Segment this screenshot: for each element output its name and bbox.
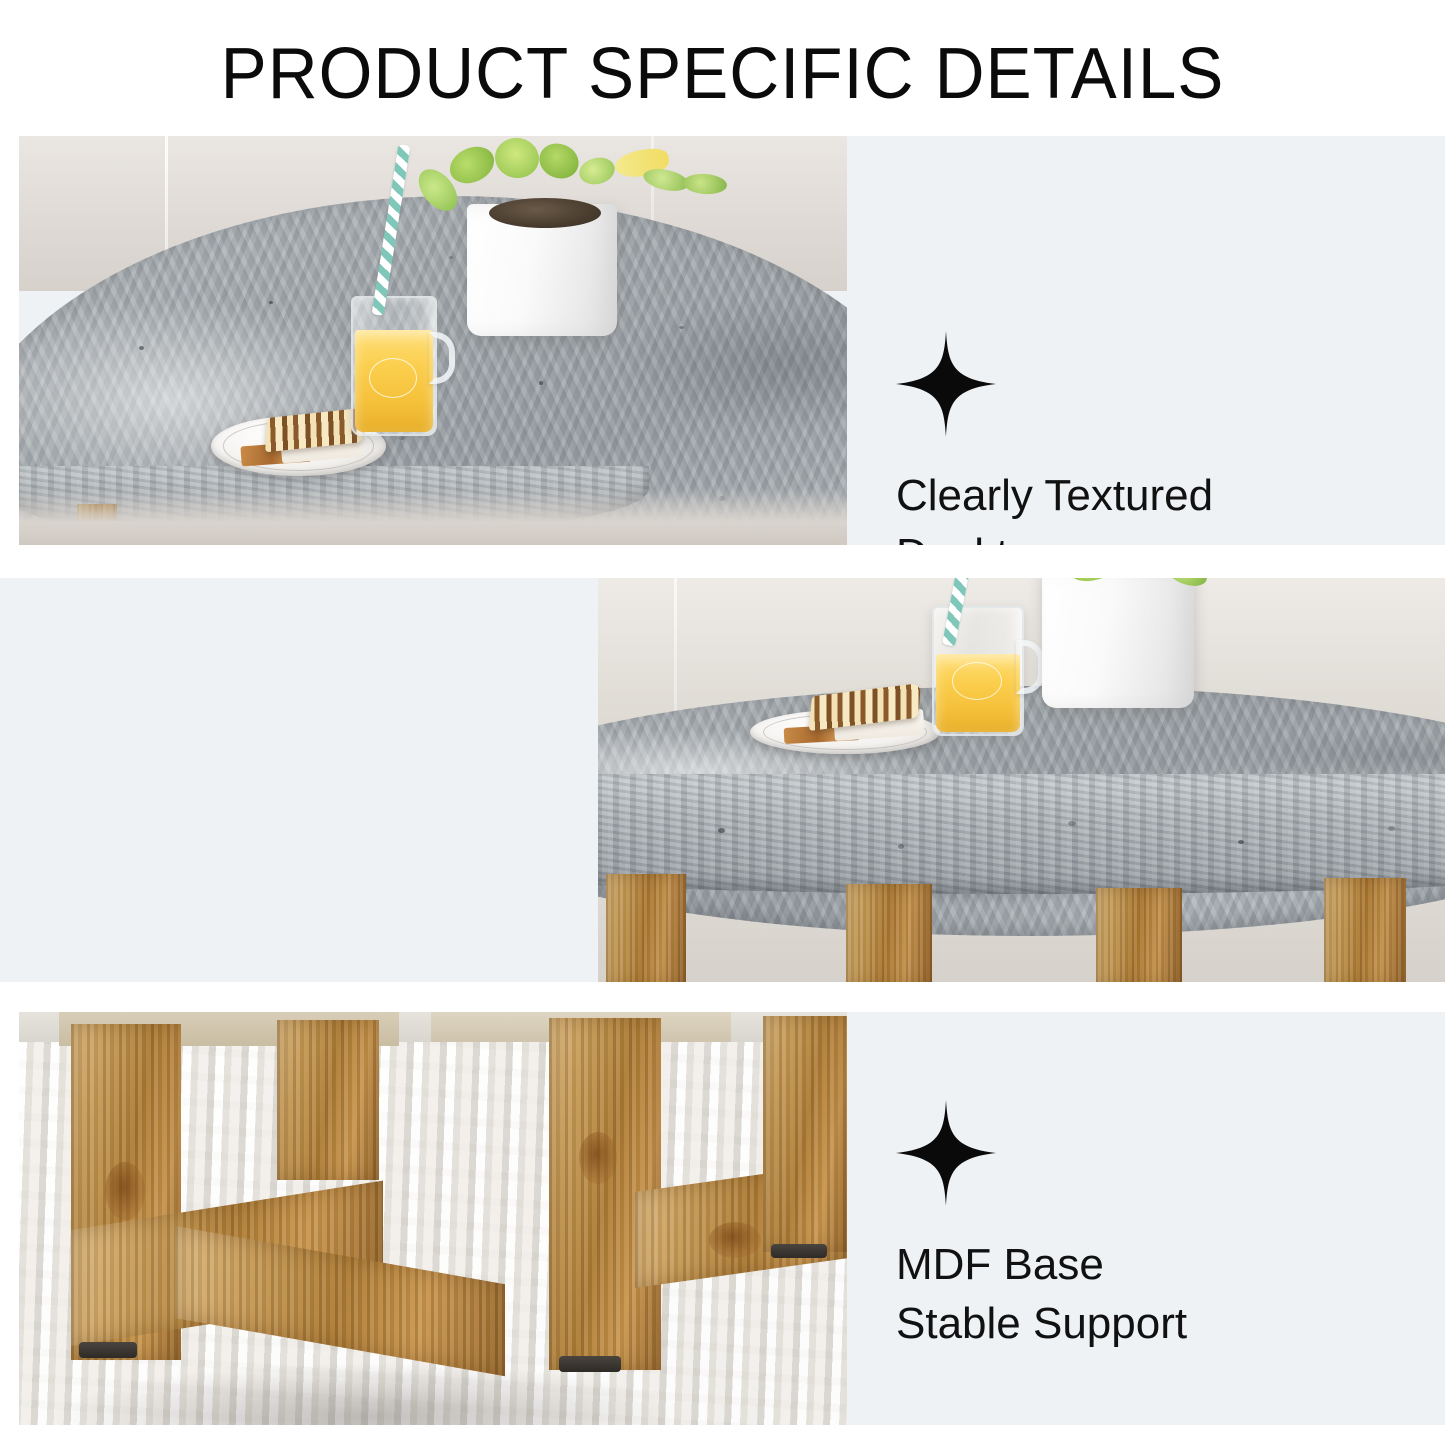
base-leg — [763, 1016, 847, 1252]
product-photo-thick-edge — [598, 578, 1445, 982]
product-detail-infographic: PRODUCT SPECIFIC DETAILS — [0, 0, 1445, 1445]
page-title: PRODUCT SPECIFIC DETAILS — [29, 38, 1416, 110]
caption-text: MDF Base Stable Support — [896, 1236, 1187, 1353]
sparkle-icon — [896, 331, 996, 437]
table-leg — [1096, 888, 1182, 982]
table-leg — [1324, 878, 1406, 982]
detail-section-mdf-base-stable-support: MDF Base Stable Support — [19, 1012, 1445, 1425]
sparkle-icon — [896, 1100, 996, 1206]
base-leg — [277, 1020, 379, 1180]
table-leg — [606, 874, 686, 982]
caption-text: Clearly Textured Desktop — [896, 467, 1213, 545]
caption-mdf-base-stable-support: MDF Base Stable Support — [896, 1100, 1187, 1353]
table-leg — [846, 884, 932, 982]
product-photo-tabletop — [19, 136, 847, 545]
juice-jar — [351, 296, 437, 436]
detail-section-thick-desktop: Thick Desktop — [0, 578, 1445, 982]
detail-section-clearly-textured-desktop: Clearly Textured Desktop — [19, 136, 1445, 545]
caption-clearly-textured-desktop: Clearly Textured Desktop — [896, 331, 1213, 545]
product-photo-base — [19, 1012, 847, 1425]
